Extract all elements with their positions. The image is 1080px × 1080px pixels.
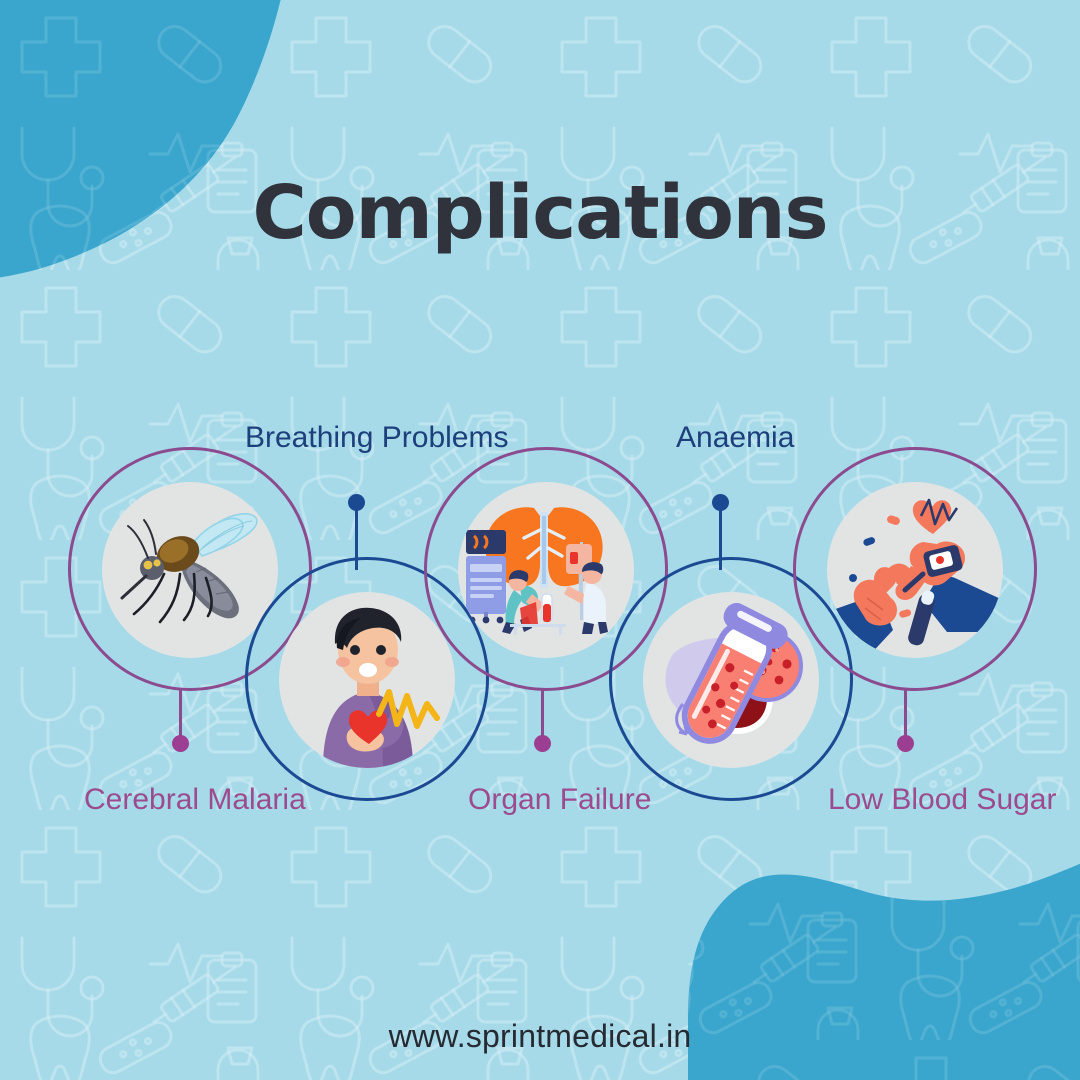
connector-stem [904,688,907,742]
connector-dot [897,735,914,752]
connector-dot [534,735,551,752]
node-label: Low Blood Sugar [828,783,1057,817]
node-disc [279,592,455,768]
kidney-dialysis-icon [458,482,634,658]
complications-diagram: Cerebral Malaria [0,0,1080,1080]
chest-pain-person-icon [279,592,455,768]
node-disc [827,482,1003,658]
node-disc [643,592,819,768]
glucose-meter-hand-icon [827,482,1003,658]
node-disc [458,482,634,658]
website-url: www.sprintmedical.in [0,1018,1080,1055]
node-label: Anaemia [676,421,794,455]
node-label: Organ Failure [468,783,651,817]
node-label: Cerebral Malaria [84,783,306,817]
connector-dot [172,735,189,752]
blood-test-tube-icon [643,592,819,768]
node-disc [102,482,278,658]
connector-stem [541,688,544,742]
infographic-canvas: Complications [0,0,1080,1080]
mosquito-icon [102,482,278,658]
node-label: Breathing Problems [245,421,508,455]
connector-stem [179,688,182,742]
